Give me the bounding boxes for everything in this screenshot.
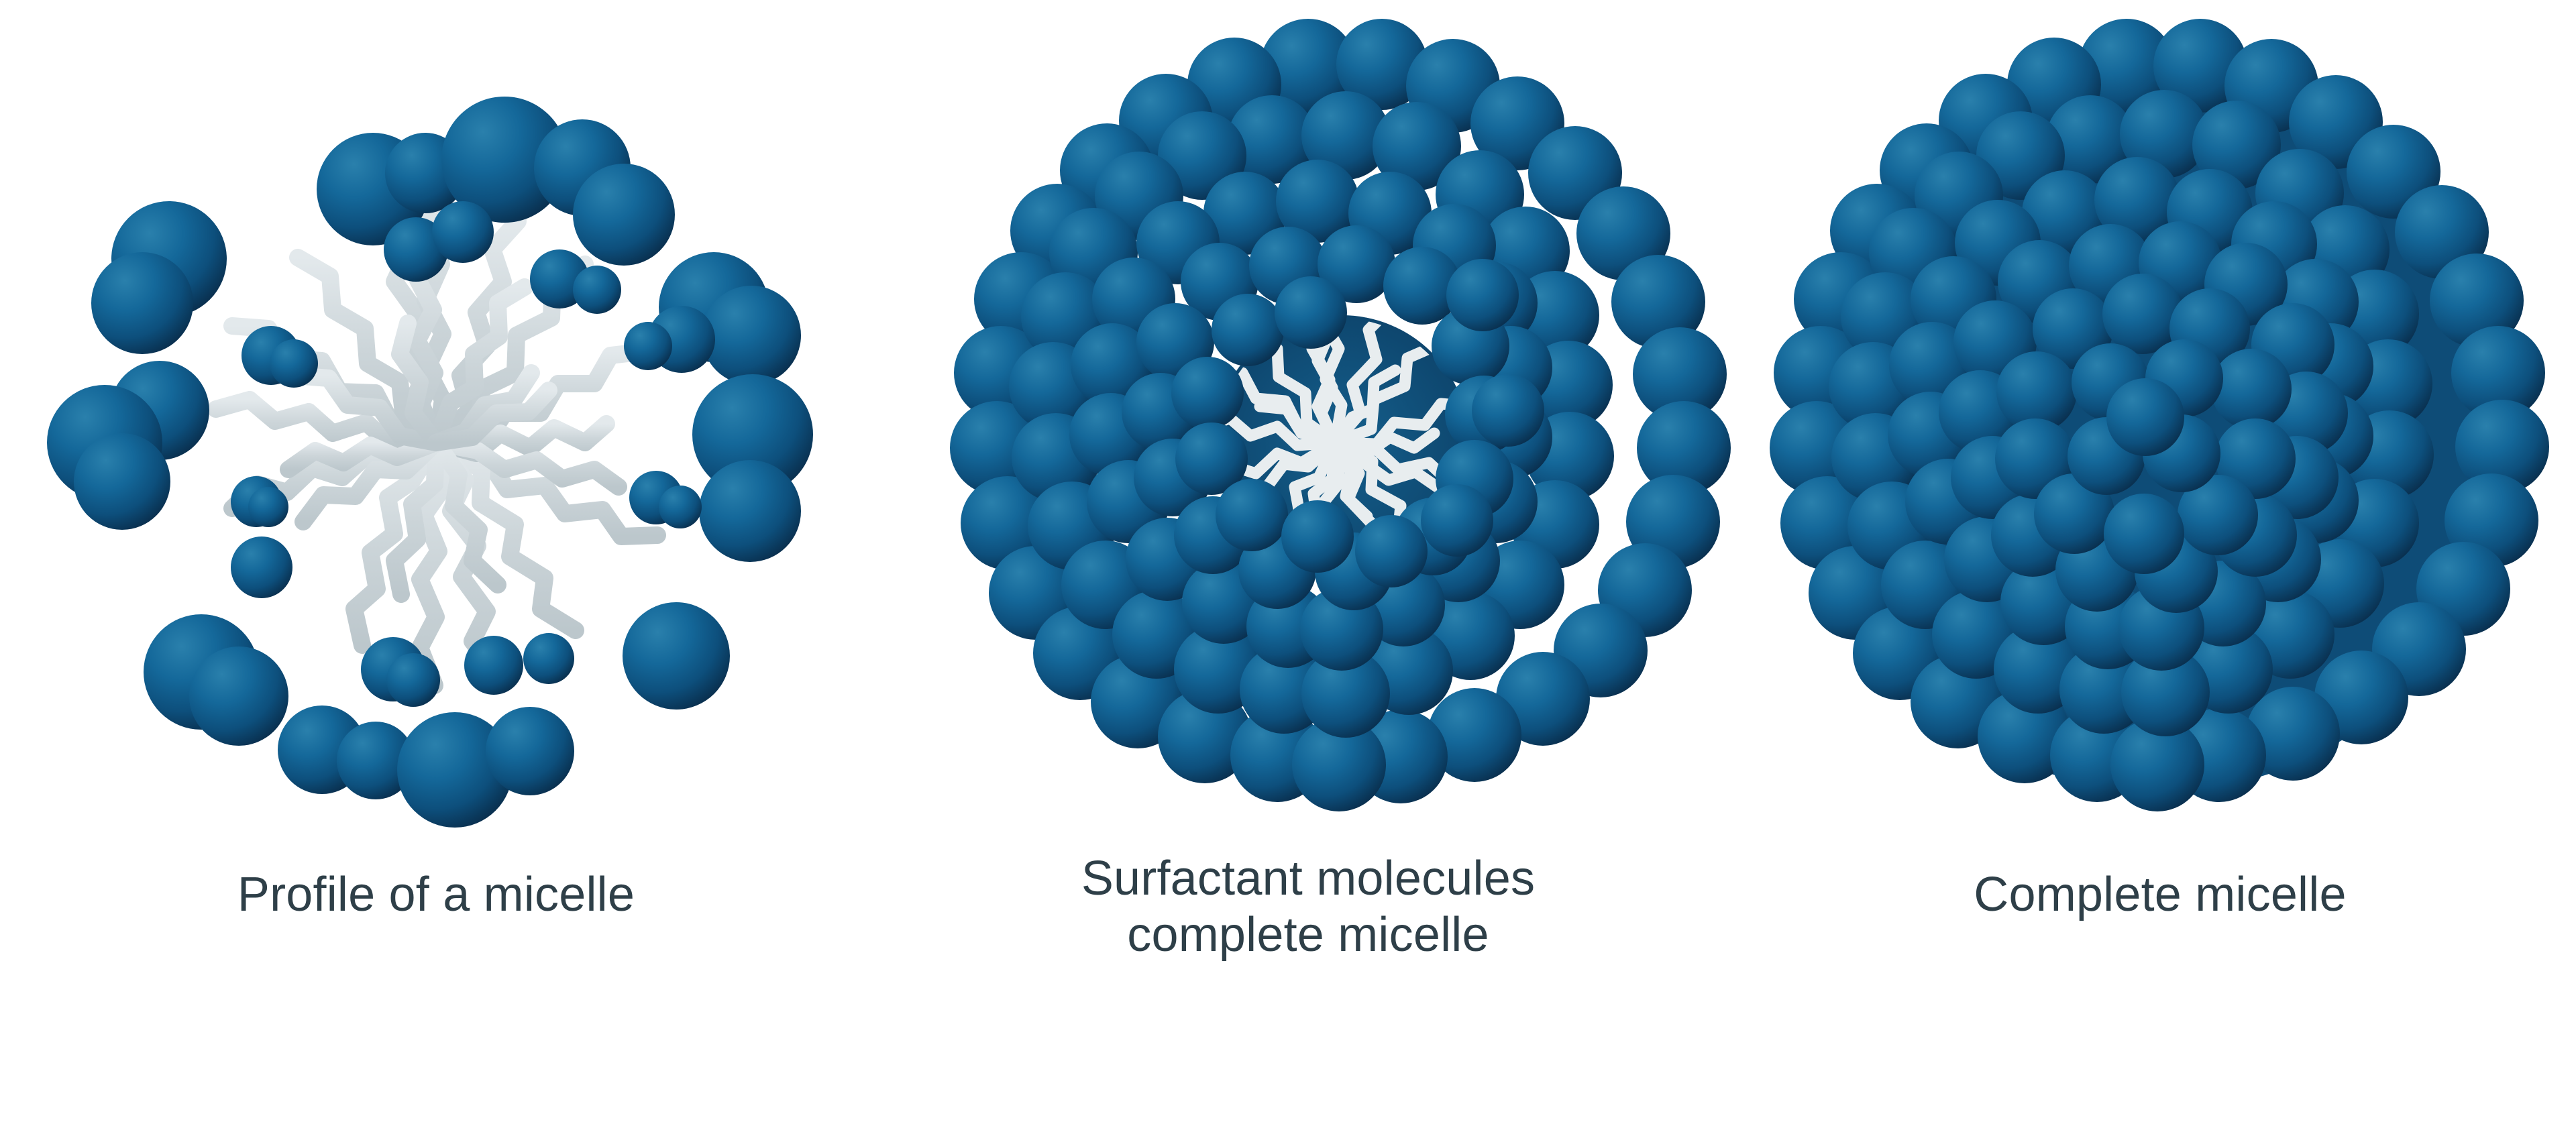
complete-micelle-illustration: [1744, 0, 2576, 872]
caption-surfactant-complete: Surfactant molecules complete micelle: [872, 850, 1744, 963]
panel-complete: Complete micelle: [1744, 0, 2576, 1130]
micelle-diagram: Profile of a micelle: [0, 0, 2576, 1130]
panel-profile: Profile of a micelle: [0, 0, 872, 1130]
caption-line: complete micelle: [872, 907, 1744, 963]
caption-complete: Complete micelle: [1744, 866, 2576, 923]
caption-profile: Profile of a micelle: [0, 866, 872, 923]
caption-line: Surfactant molecules: [872, 850, 1744, 907]
caption-line: Profile of a micelle: [0, 866, 872, 923]
caption-line: Complete micelle: [1744, 866, 2576, 923]
panel-surfactant-complete: Surfactant molecules complete micelle: [872, 0, 1744, 1130]
profile-micelle-illustration: [0, 0, 872, 872]
surfactant-complete-micelle-illustration: [872, 0, 1744, 872]
